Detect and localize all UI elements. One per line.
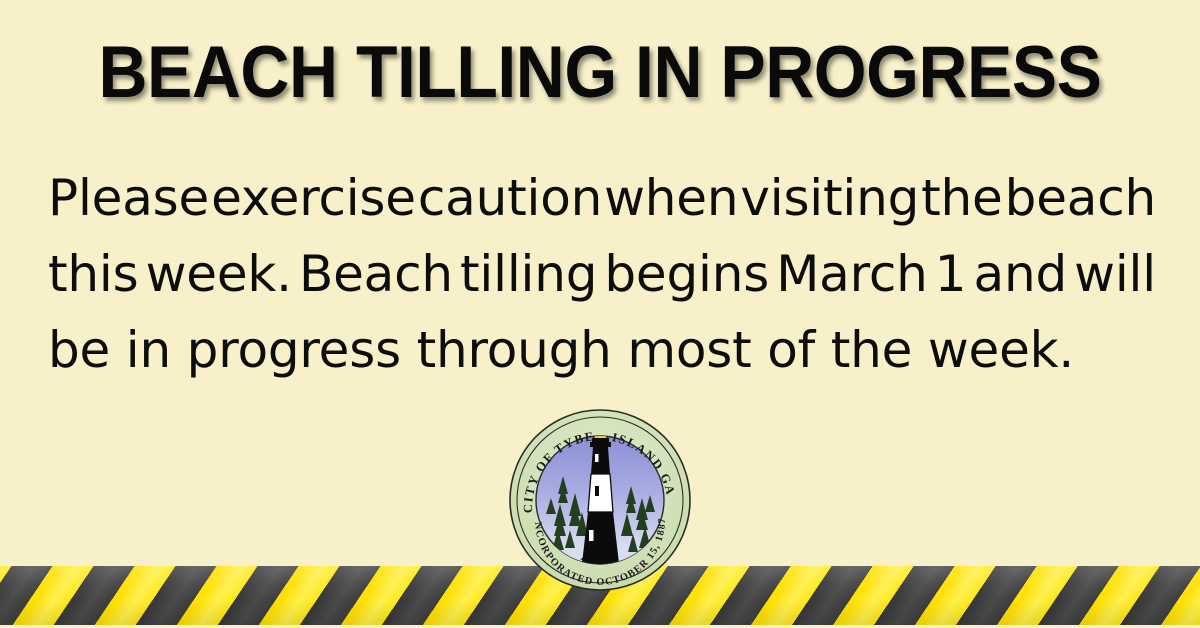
body-word: beach [1005,160,1156,236]
body-line-3: be in progress through most of the week. [48,312,1156,388]
body-word: begins [604,236,769,312]
body-word: will [1074,236,1156,312]
body-word: this [48,236,138,312]
page-title: BEACH TILLING IN PROGRESS [42,34,1158,112]
body-word: the [921,160,1002,236]
body-word: March [776,236,927,312]
body-word: week. [146,236,292,312]
city-seal: CITY OF TYBEE ISLAND GA INCORPORATED OCT… [508,408,692,592]
body-word: 1 [935,236,967,312]
poster-canvas: BEACH TILLING IN PROGRESS Please exercis… [0,0,1200,628]
body-word: exercise [211,160,416,236]
body-word: Please [48,160,209,236]
body-word: tilling [460,236,597,312]
body-line-2: this week. Beach tilling begins March 1 … [48,236,1156,312]
body-line-1: Please exercise caution when visiting th… [48,160,1156,236]
body-word: caution [418,160,602,236]
body-word: visiting [740,160,919,236]
body-word: and [974,236,1067,312]
body-copy: Please exercise caution when visiting th… [48,160,1156,388]
body-word: Beach [299,236,453,312]
body-word: when [604,160,738,236]
